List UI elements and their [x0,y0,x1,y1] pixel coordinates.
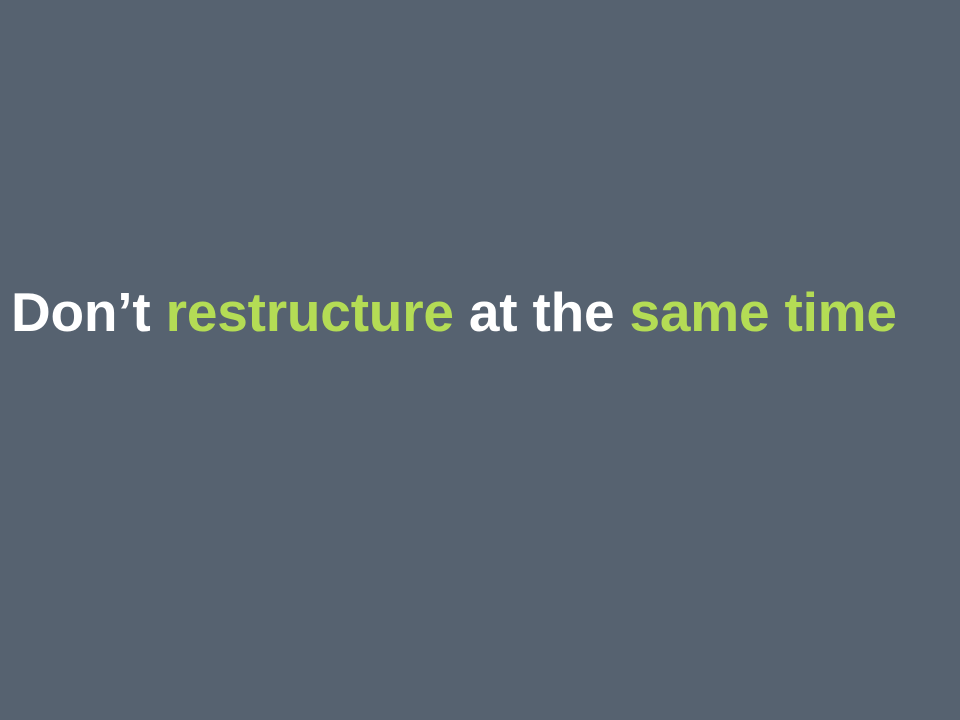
headline-space-3 [614,281,629,343]
headline-segment-at-the: at the [469,281,615,343]
slide-canvas: Don’t restructure at the same time [0,0,960,720]
headline-segment-same-time: same time [630,281,897,343]
headline-space-1 [151,281,166,343]
headline-space-2 [454,281,469,343]
headline-segment-restructure: restructure [166,281,454,343]
headline-segment-dont: Don’t [11,281,151,343]
slide-headline: Don’t restructure at the same time [11,283,951,341]
